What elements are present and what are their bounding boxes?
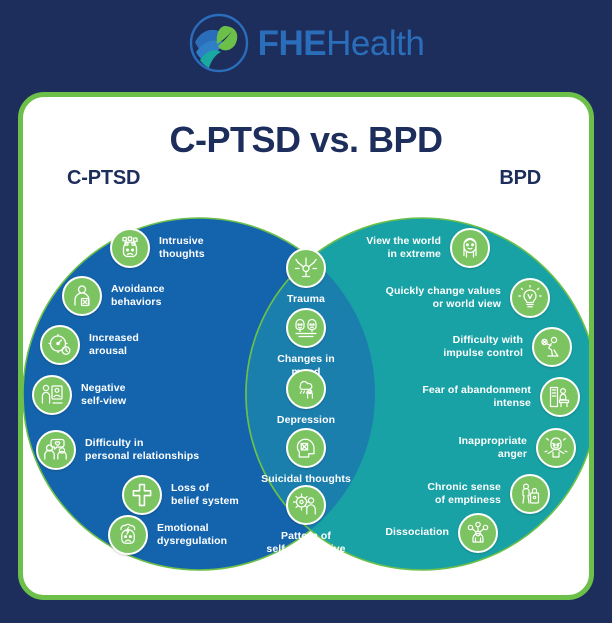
- list-item[interactable]: Suicidal thoughts: [256, 428, 356, 486]
- list-item-label: View the world in extreme: [366, 235, 441, 261]
- list-item-label: Difficulty in personal relationships: [85, 437, 199, 463]
- list-item[interactable]: Avoidance behaviors: [62, 276, 165, 316]
- fhe-wave-leaf-logo-icon: [188, 12, 250, 74]
- list-item-label: Trauma: [287, 293, 325, 306]
- list-item-label: Dissociation: [385, 526, 449, 539]
- list-item[interactable]: Increased arousal: [40, 325, 139, 365]
- right-circle-label: BPD: [499, 167, 541, 190]
- left-circle-label: C-PTSD: [67, 167, 140, 190]
- list-item-label: Intrusive thoughts: [159, 235, 205, 261]
- intrusive-thoughts-icon: [110, 228, 150, 268]
- inappropriate-anger-icon: [536, 428, 576, 468]
- list-item[interactable]: Inappropriate anger: [459, 428, 576, 468]
- list-item[interactable]: Chronic sense of emptiness: [427, 474, 550, 514]
- list-item-label: Chronic sense of emptiness: [427, 481, 501, 507]
- list-item[interactable]: View the world in extreme: [366, 228, 490, 268]
- trauma-icon: [286, 248, 326, 288]
- impulse-control-icon: [532, 327, 572, 367]
- list-item[interactable]: Fear of abandonment intense: [422, 377, 580, 417]
- increased-arousal-icon: [40, 325, 80, 365]
- list-item-label: Fear of abandonment intense: [422, 384, 531, 410]
- list-item[interactable]: Difficulty in personal relationships: [36, 430, 199, 470]
- list-item-label: Avoidance behaviors: [111, 283, 165, 309]
- list-item-label: Increased arousal: [89, 332, 139, 358]
- list-item-label: Negative self-view: [81, 382, 126, 408]
- brand-header: FHEHealth: [0, 0, 612, 86]
- list-item[interactable]: Negative self-view: [32, 375, 126, 415]
- list-item[interactable]: Intrusive thoughts: [110, 228, 205, 268]
- list-item-label: Pattern of self-destructive behavior: [266, 530, 345, 569]
- list-item[interactable]: Trauma: [266, 248, 346, 306]
- list-item-label: Inappropriate anger: [459, 435, 527, 461]
- list-item[interactable]: Loss of belief system: [122, 475, 239, 515]
- list-item-label: Emotional dysregulation: [157, 522, 227, 548]
- view-world-extreme-icon: [450, 228, 490, 268]
- list-item[interactable]: Difficulty with impulse control: [443, 327, 572, 367]
- changing-values-bulb-icon: [510, 278, 550, 318]
- list-item[interactable]: Depression: [266, 369, 346, 427]
- changes-in-mood-icon: [286, 308, 326, 348]
- brand-wordmark: FHEHealth: [258, 26, 425, 61]
- list-item[interactable]: Emotional dysregulation: [108, 515, 227, 555]
- brand-name-light: Health: [326, 24, 424, 63]
- self-destructive-behavior-icon: [286, 485, 326, 525]
- chronic-emptiness-icon: [510, 474, 550, 514]
- list-item-label: Loss of belief system: [171, 482, 239, 508]
- list-item-label: Depression: [277, 414, 335, 427]
- page-title: C-PTSD vs. BPD: [23, 119, 589, 161]
- list-item[interactable]: Dissociation: [385, 513, 498, 553]
- avoidance-behaviors-icon: [62, 276, 102, 316]
- personal-relationships-icon: [36, 430, 76, 470]
- brand-name-bold: FHE: [258, 24, 327, 63]
- list-item[interactable]: Pattern of self-destructive behavior: [252, 485, 360, 569]
- depression-rain-cloud-icon: [286, 369, 326, 409]
- list-item-label: Quickly change values or world view: [386, 285, 501, 311]
- fear-abandonment-icon: [540, 377, 580, 417]
- list-item[interactable]: Quickly change values or world view: [386, 278, 550, 318]
- dissociation-icon: [458, 513, 498, 553]
- negative-self-view-icon: [32, 375, 72, 415]
- suicidal-thoughts-icon: [286, 428, 326, 468]
- emotional-dysregulation-icon: [108, 515, 148, 555]
- belief-system-cross-icon: [122, 475, 162, 515]
- list-item-label: Difficulty with impulse control: [443, 334, 523, 360]
